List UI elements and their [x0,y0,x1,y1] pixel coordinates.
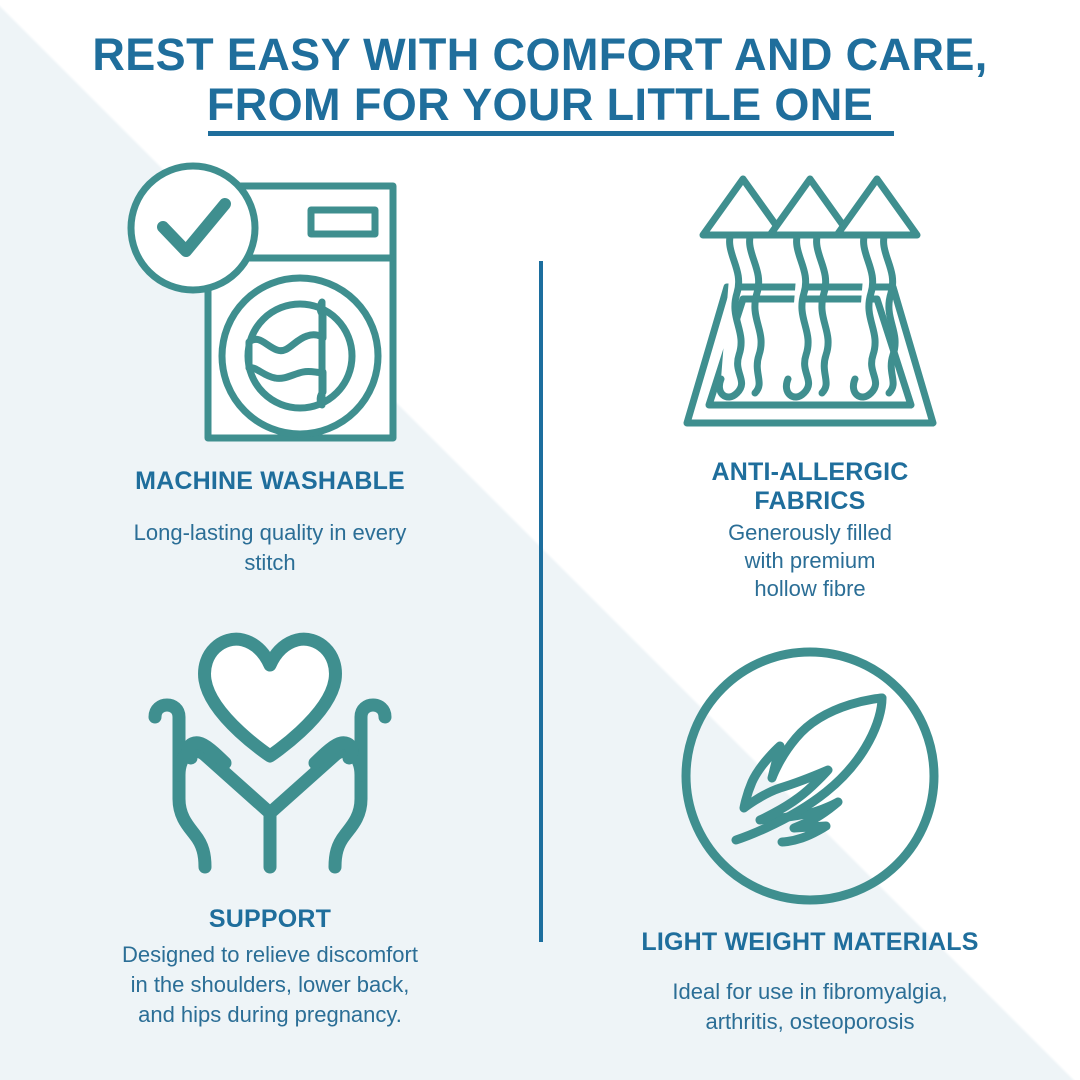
feature-title: LIGHT WEIGHT MATERIALS [570,928,1050,957]
feature-desc-line: hollow fibre [570,575,1050,603]
page-title-line-1: REST EASY WITH COMFORT AND CARE, [60,30,1020,80]
hands-holding-heart-icon [30,620,510,885]
feature-card-anti-allergic-fabrics: ANTI-ALLERGIC FABRICS Generously filled … [570,160,1050,580]
washing-machine-check-icon [30,160,510,445]
column-divider [539,261,543,942]
feature-card-light-weight-materials: LIGHT WEIGHT MATERIALS Ideal for use in … [570,620,1050,1050]
feature-desc-line: stitch [30,548,510,578]
feature-desc-line: in the shoulders, lower back, [30,970,510,1000]
feature-title: SUPPORT [30,905,510,934]
page-title-line-2: FROM FOR YOUR LITTLE ONE [60,80,1020,130]
page-title: REST EASY WITH COMFORT AND CARE, FROM FO… [60,30,1020,130]
feature-description: Long-lasting quality in every stitch [30,518,510,578]
feature-desc-line: Generously filled [570,519,1050,547]
title-underline [208,131,894,136]
feature-card-support: SUPPORT Designed to relieve discomfort i… [30,620,510,1050]
feather-in-circle-icon [570,620,1050,910]
feature-desc-line: Designed to relieve discomfort [30,940,510,970]
air-flow-mat-icon [570,160,1050,440]
feature-title-line: FABRICS [570,487,1050,516]
infographic-canvas: REST EASY WITH COMFORT AND CARE, FROM FO… [0,0,1080,1080]
feature-desc-line: with premium [570,547,1050,575]
feature-title: MACHINE WASHABLE [30,467,510,496]
feature-description: Designed to relieve discomfort in the sh… [30,940,510,1030]
feature-card-machine-washable: MACHINE WASHABLE Long-lasting quality in… [30,160,510,580]
feature-desc-line: Ideal for use in fibromyalgia, [570,977,1050,1007]
feature-description: Generously filled with premium hollow fi… [570,519,1050,603]
feature-title-line: ANTI-ALLERGIC [570,458,1050,487]
feature-description: Ideal for use in fibromyalgia, arthritis… [570,977,1050,1037]
feature-title: ANTI-ALLERGIC FABRICS [570,458,1050,516]
feature-desc-line: and hips during pregnancy. [30,1000,510,1030]
feature-desc-line: arthritis, osteoporosis [570,1007,1050,1037]
feature-desc-line: Long-lasting quality in every [30,518,510,548]
